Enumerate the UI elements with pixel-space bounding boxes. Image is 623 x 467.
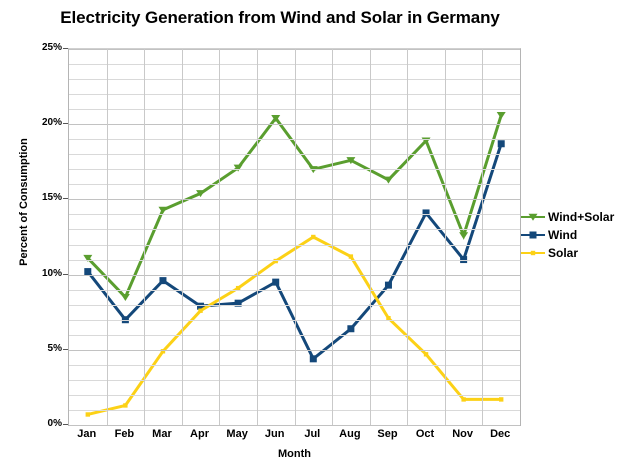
legend-swatch-icon	[521, 211, 545, 223]
y-tick-label: 10%	[28, 268, 62, 279]
legend-label: Solar	[548, 246, 578, 260]
y-tick-label: 15%	[28, 192, 62, 203]
data-point-marker	[310, 355, 317, 362]
gridline-horizontal	[69, 425, 520, 426]
legend-marker-icon	[521, 229, 545, 241]
legend-item[interactable]: Wind	[521, 226, 621, 244]
x-axis-title: Month	[68, 448, 521, 460]
legend-item[interactable]: Wind+Solar	[521, 208, 621, 226]
legend-swatch-icon	[521, 229, 545, 241]
data-point-marker	[311, 235, 315, 239]
data-point-marker	[272, 279, 279, 286]
data-point-marker	[384, 177, 393, 184]
data-point-marker	[461, 397, 465, 401]
gridline-vertical	[107, 49, 108, 425]
data-point-marker	[159, 277, 166, 284]
legend-marker-icon	[521, 247, 545, 259]
data-point-marker	[498, 140, 505, 147]
gridline-vertical	[144, 49, 145, 425]
data-point-marker	[86, 412, 90, 416]
legend-marker-icon	[521, 211, 545, 223]
data-point-marker	[158, 207, 167, 214]
chart-legend: Wind+SolarWindSolar	[521, 208, 621, 262]
gridline-vertical	[257, 49, 258, 425]
x-tick-label: Dec	[475, 428, 525, 440]
gridline-vertical	[370, 49, 371, 425]
legend-label: Wind+Solar	[548, 210, 614, 224]
chart-title: Electricity Generation from Wind and Sol…	[0, 8, 560, 28]
data-point-marker	[424, 352, 428, 356]
gridline-vertical	[219, 49, 220, 425]
gridline-vertical	[445, 49, 446, 425]
legend-item[interactable]: Solar	[521, 244, 621, 262]
data-point-marker	[530, 232, 537, 239]
plot-area	[68, 48, 521, 426]
data-point-marker	[385, 282, 392, 289]
gridline-vertical	[482, 49, 483, 425]
y-axis-title: Percent of Consumption	[18, 92, 30, 312]
y-tick-label: 5%	[28, 343, 62, 354]
legend-swatch-icon	[521, 247, 545, 259]
x-axis-tick-labels: JanFebMarAprMayJunJulAugSepOctNovDec	[68, 428, 521, 448]
data-point-marker	[497, 112, 506, 119]
gridline-vertical	[295, 49, 296, 425]
gridline-vertical	[182, 49, 183, 425]
gridline-vertical	[407, 49, 408, 425]
data-point-marker	[499, 397, 503, 401]
data-point-marker	[121, 294, 130, 301]
y-tick-label: 25%	[28, 42, 62, 53]
data-point-marker	[459, 232, 468, 239]
line-chart: Electricity Generation from Wind and Sol…	[0, 0, 623, 467]
y-tick-label: 20%	[28, 117, 62, 128]
legend-label: Wind	[548, 228, 577, 242]
data-point-marker	[198, 308, 202, 312]
data-point-marker	[349, 254, 353, 258]
data-point-marker	[123, 403, 127, 407]
data-point-marker	[531, 251, 535, 255]
data-point-marker	[529, 214, 538, 221]
data-point-marker	[347, 325, 354, 332]
y-tick-label: 0%	[28, 418, 62, 429]
gridline-vertical	[332, 49, 333, 425]
